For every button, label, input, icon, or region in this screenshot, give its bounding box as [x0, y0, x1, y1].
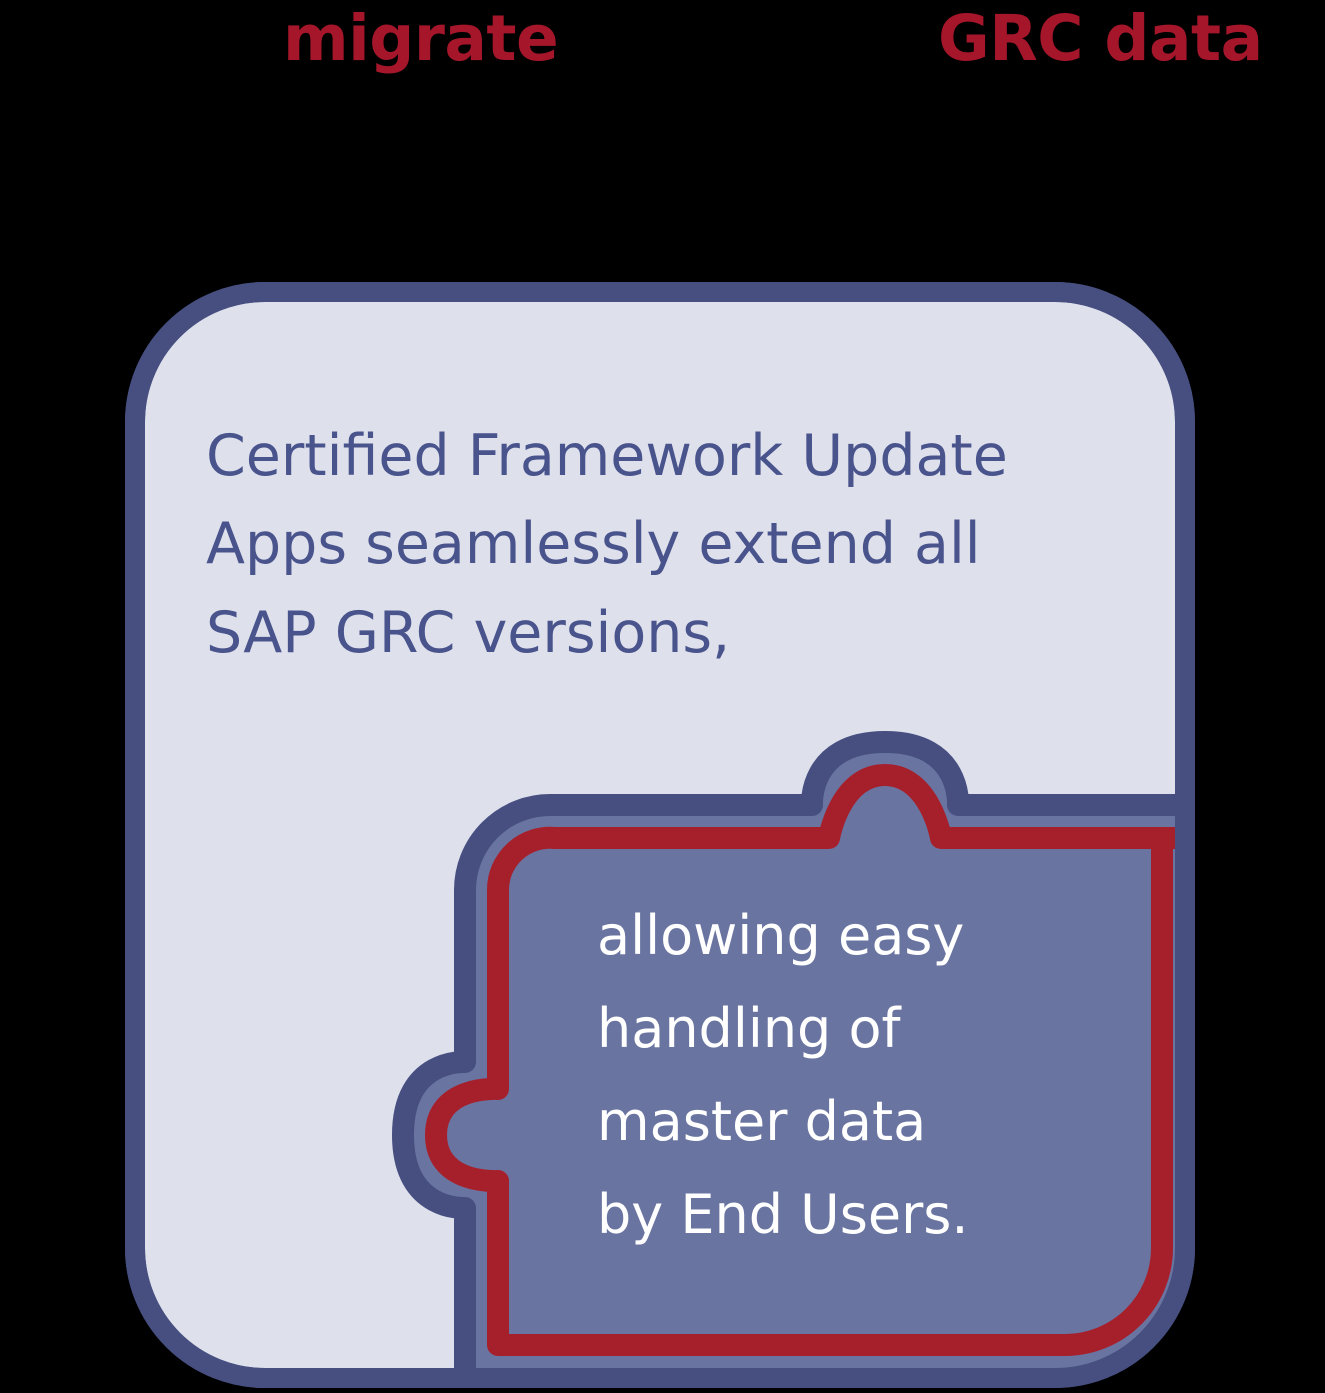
diagram-canvas: migrate GRC data Certified Framework Upd…: [0, 0, 1325, 1393]
puzzle-piece-body-text: allowing easy handling of master data by…: [597, 890, 1067, 1262]
card-body-text: Certified Framework Update Apps seamless…: [206, 412, 1136, 677]
